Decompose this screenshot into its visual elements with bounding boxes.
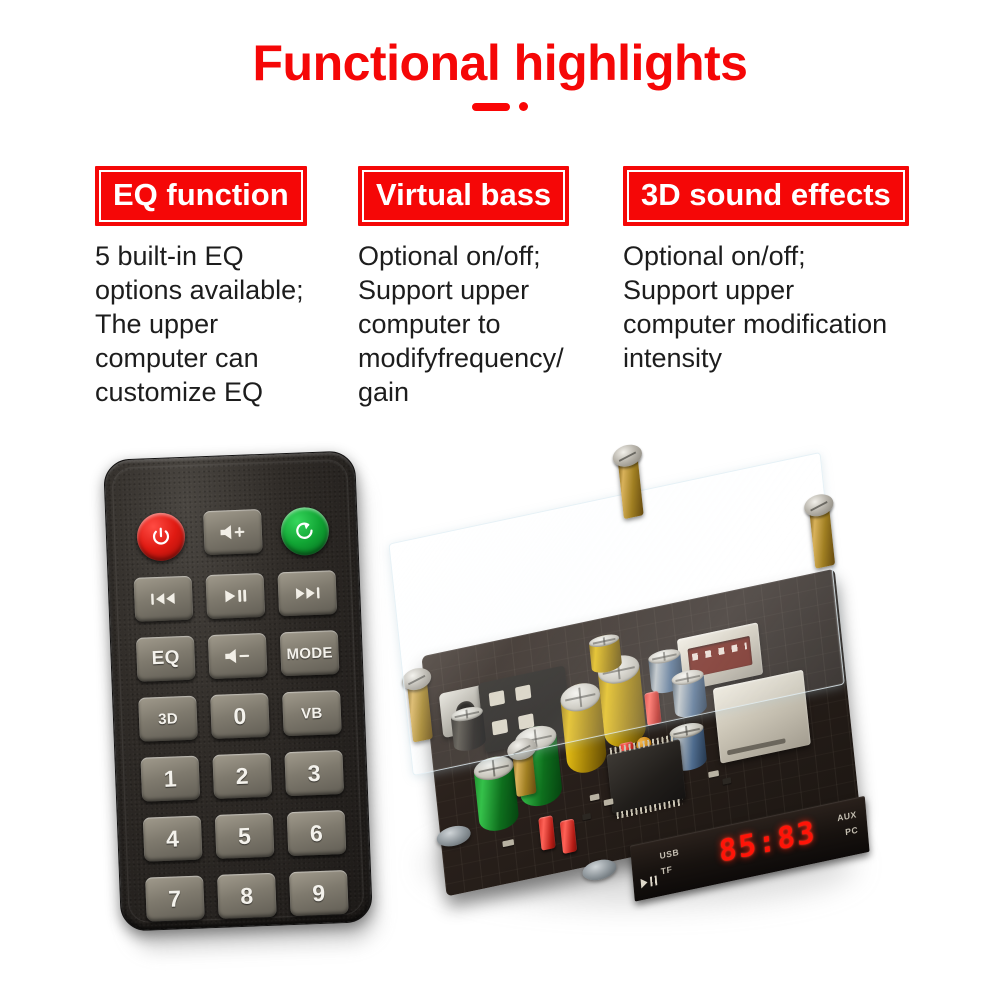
digit-6-button[interactable]: 6	[287, 810, 347, 856]
feature-columns: EQ function 5 built-in EQ options availa…	[0, 166, 1000, 416]
digit-8-label: 8	[240, 882, 254, 909]
remote-control-photo: EQ MODE 3D	[112, 455, 380, 945]
panel-label-pc: PC	[845, 825, 859, 837]
feature-body-text: Optional on/off; Support upper computer …	[623, 239, 941, 375]
digit-7-button[interactable]: 7	[145, 875, 205, 921]
screw-head	[401, 665, 432, 692]
led-digit-display: 85:83	[718, 815, 818, 868]
digit-4-label: 4	[166, 825, 180, 852]
volume-up-button[interactable]	[203, 509, 263, 555]
title-underline-decoration	[0, 102, 1000, 111]
repeat-button[interactable]	[280, 506, 330, 556]
feature-badge-eq-function: EQ function	[95, 166, 307, 226]
digit-1-button[interactable]: 1	[140, 756, 200, 802]
eq-button-label: EQ	[151, 647, 180, 670]
3d-button[interactable]: 3D	[138, 696, 198, 742]
panel-label-aux: AUX	[837, 809, 857, 823]
next-icon	[293, 585, 322, 602]
brass-standoff	[809, 505, 835, 569]
pause-bars	[650, 875, 657, 886]
digit-6-label: 6	[309, 819, 323, 846]
digit-2-label: 2	[235, 762, 249, 789]
volume-down-icon	[222, 645, 253, 666]
title-block: Functional highlights	[0, 34, 1000, 111]
repeat-icon	[292, 519, 317, 544]
screw-head	[803, 492, 834, 519]
digit-0-button[interactable]: 0	[210, 693, 270, 739]
pcb-substrate: USB TF AUX PC 85:83	[421, 569, 859, 897]
eq-button[interactable]: EQ	[136, 636, 196, 682]
feature-body-text: Optional on/off; Support upper computer …	[358, 239, 608, 409]
play-pause-icon	[222, 588, 249, 605]
previous-track-button[interactable]	[134, 576, 194, 622]
feature-body-text: 5 built-in EQ options available; The upp…	[95, 239, 345, 409]
feature-card-3d-sound-effects: 3D sound effects Optional on/off; Suppor…	[623, 166, 941, 375]
panel-label-usb: USB	[659, 847, 679, 861]
feature-badge-3d-sound-effects: 3D sound effects	[623, 166, 909, 226]
underline-dot	[519, 102, 528, 111]
digit-0-label: 0	[233, 702, 247, 729]
mode-button[interactable]: MODE	[280, 630, 340, 676]
capacitor-blue	[671, 667, 708, 720]
digit-3-button[interactable]: 3	[284, 750, 344, 796]
feature-card-eq-function: EQ function 5 built-in EQ options availa…	[95, 166, 345, 409]
feature-badge-label: EQ function	[99, 170, 303, 222]
feature-badge-label: 3D sound effects	[627, 170, 905, 222]
vb-button-label: VB	[301, 704, 323, 722]
digit-2-button[interactable]: 2	[212, 753, 272, 799]
digit-9-label: 9	[312, 879, 326, 906]
remote-keypad: EQ MODE 3D	[130, 506, 350, 922]
underline-dash	[472, 103, 510, 111]
feature-badge-label: Virtual bass	[362, 170, 565, 222]
decoder-board-photo: USB TF AUX PC 85:83	[385, 455, 925, 955]
digit-1-label: 1	[163, 765, 177, 792]
mode-button-label: MODE	[286, 644, 333, 663]
power-button[interactable]	[136, 512, 186, 562]
power-icon	[150, 525, 173, 548]
feature-card-virtual-bass: Virtual bass Optional on/off; Support up…	[358, 166, 608, 409]
volume-up-icon	[218, 522, 249, 543]
infographic-page: Functional highlights EQ function 5 buil…	[0, 0, 1000, 1000]
play-pause-indicator-icon	[641, 875, 658, 888]
board-scene: USB TF AUX PC 85:83	[376, 411, 934, 999]
digit-9-button[interactable]: 9	[289, 870, 349, 916]
remote-control-body: EQ MODE 3D	[103, 450, 373, 931]
feature-badge-virtual-bass: Virtual bass	[358, 166, 569, 226]
page-title: Functional highlights	[0, 34, 1000, 92]
next-track-button[interactable]	[277, 570, 337, 616]
brass-standoff	[618, 456, 644, 520]
previous-icon	[149, 590, 178, 607]
3d-button-label: 3D	[158, 710, 178, 728]
screw-head	[612, 442, 643, 469]
panel-label-tf: TF	[660, 864, 672, 876]
digit-5-button[interactable]: 5	[215, 813, 275, 859]
play-pause-button[interactable]	[206, 573, 266, 619]
play-triangle	[641, 877, 648, 888]
digit-3-label: 3	[307, 759, 321, 786]
digit-8-button[interactable]: 8	[217, 873, 277, 919]
volume-down-button[interactable]	[208, 633, 268, 679]
digit-4-button[interactable]: 4	[143, 816, 203, 862]
main-ic-chip	[606, 739, 685, 814]
digit-7-label: 7	[168, 885, 182, 912]
digit-5-label: 5	[238, 822, 252, 849]
vb-button[interactable]: VB	[282, 690, 342, 736]
